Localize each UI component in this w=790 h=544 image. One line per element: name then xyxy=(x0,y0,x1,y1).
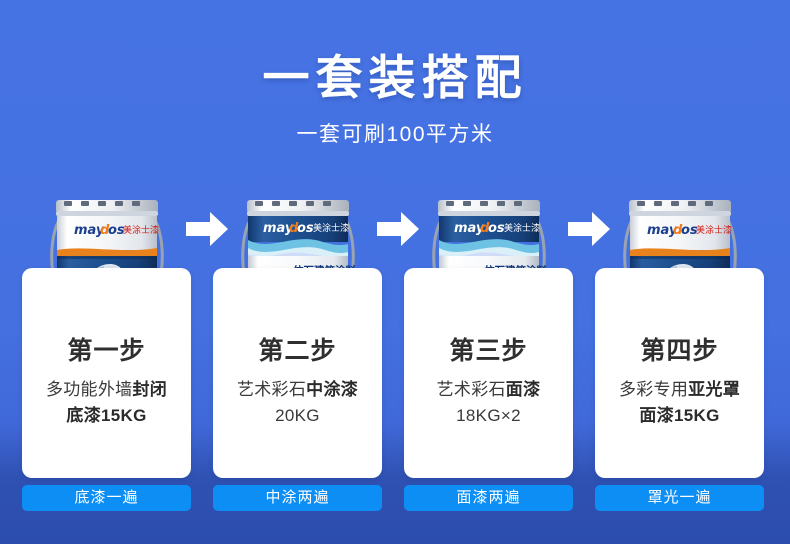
brand-logo-cn: 美涂士漆 xyxy=(696,224,732,236)
step-title: 第二步 xyxy=(213,336,382,366)
step-description: 艺术彩石面漆 18KG×2 xyxy=(404,366,573,429)
step-desc-bold: 封闭 xyxy=(132,380,167,399)
brand-logo-latin-3: os xyxy=(297,221,314,236)
step-desc-normal: 多彩专用 xyxy=(619,380,688,399)
step-card-text: 第四步 多彩专用亚光罩 面漆15KG xyxy=(595,336,764,429)
brand-logo-cn: 美涂士漆 xyxy=(123,224,159,236)
step-description: 多功能外墙封闭 底漆15KG xyxy=(22,366,191,429)
step-desc-line2: 20KG xyxy=(213,403,382,429)
step-column-3: may d os 美涂士漆 仿石建筑涂料 Stone-like Coating xyxy=(404,186,573,526)
step-card-text: 第一步 多功能外墙封闭 底漆15KG xyxy=(22,336,191,429)
step-card-text: 第二步 艺术彩石中涂漆 20KG xyxy=(213,336,382,429)
step-pill-label: 面漆两遍 xyxy=(404,485,573,511)
page-title: 一套装搭配 xyxy=(0,0,790,106)
step-desc-normal: 艺术彩石 xyxy=(237,380,306,399)
step-pill-label: 中涂两遍 xyxy=(213,485,382,511)
step-desc-bold: 中涂漆 xyxy=(306,380,358,399)
step-desc-line2: 面漆15KG xyxy=(595,403,764,429)
step-desc-line2: 底漆15KG xyxy=(22,403,191,429)
step-desc-bold: 亚光罩 xyxy=(688,380,740,399)
poster-header: 一套装搭配 一套可刷100平方米 xyxy=(0,0,790,148)
step-description: 多彩专用亚光罩 面漆15KG xyxy=(595,366,764,429)
step-desc-normal: 多功能外墙 xyxy=(46,380,133,399)
step-title: 第四步 xyxy=(595,336,764,366)
promo-poster: 一套装搭配 一套可刷100平方米 xyxy=(0,0,790,544)
step-column-2: may d os 美涂士漆 仿石建筑涂料 Stone-like Coating xyxy=(213,186,382,526)
step-card[interactable]: 第三步 艺术彩石面漆 18KG×2 xyxy=(404,268,573,478)
step-card[interactable]: 第二步 艺术彩石中涂漆 20KG xyxy=(213,268,382,478)
steps-row: may d os 美涂士漆 xyxy=(0,186,790,526)
step-title: 第一步 xyxy=(22,336,191,366)
step-desc-bold: 面漆 xyxy=(506,380,541,399)
step-pill-label: 罩光一遍 xyxy=(595,485,764,511)
step-pill-label: 底漆一遍 xyxy=(22,485,191,511)
brand-logo-cn: 美涂士漆 xyxy=(313,222,349,234)
brand-logo-latin-3: os xyxy=(488,221,505,236)
step-card[interactable]: 第一步 多功能外墙封闭 底漆15KG xyxy=(22,268,191,478)
step-column-4: may d os 美涂士漆 xyxy=(595,186,764,526)
brand-logo-cn: 美涂士漆 xyxy=(504,222,540,234)
step-desc-line2: 18KG×2 xyxy=(404,403,573,429)
step-column-1: may d os 美涂士漆 xyxy=(22,186,191,526)
step-description: 艺术彩石中涂漆 20KG xyxy=(213,366,382,429)
step-title: 第三步 xyxy=(404,336,573,366)
step-card[interactable]: 第四步 多彩专用亚光罩 面漆15KG xyxy=(595,268,764,478)
page-subtitle: 一套可刷100平方米 xyxy=(0,106,790,148)
step-card-text: 第三步 艺术彩石面漆 18KG×2 xyxy=(404,336,573,429)
step-desc-normal: 艺术彩石 xyxy=(437,380,506,399)
